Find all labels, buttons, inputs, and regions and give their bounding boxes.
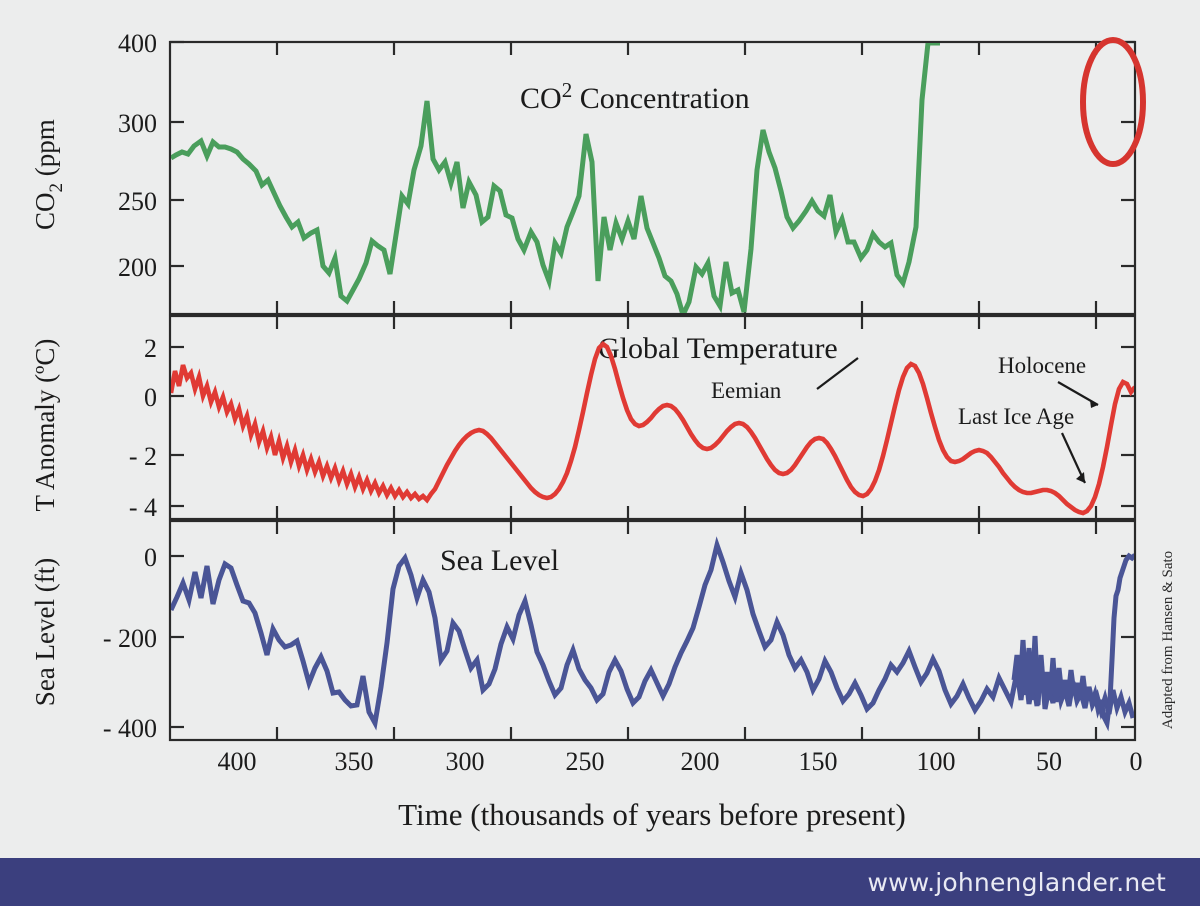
annotation-last-ice-age-label: Last Ice Age: [958, 404, 1074, 429]
xtick-300: 300: [446, 747, 485, 776]
climate-chart-svg: 400 300 250 200 CO2 (ppm CO2 Concentrati…: [0, 0, 1200, 852]
temperature-axis-label: T Anomaly (ºC): [30, 339, 60, 512]
temperature-ytick-0: 0: [144, 383, 157, 412]
xtick-350: 350: [335, 747, 374, 776]
temperature-ytick-2: 2: [144, 334, 157, 363]
xtick-0: 0: [1130, 747, 1143, 776]
xtick-50: 50: [1036, 747, 1062, 776]
co2-ytick-250: 250: [118, 187, 157, 216]
xtick-150: 150: [799, 747, 838, 776]
temperature-ytick-neg4: - 4: [129, 493, 157, 522]
source-credit: Adapted from Hansen & Sato: [1160, 551, 1176, 729]
annotation-holocene-label: Holocene: [998, 353, 1086, 378]
co2-panel-title: CO2 Concentration: [520, 78, 750, 115]
xtick-200: 200: [681, 747, 720, 776]
xtick-400: 400: [218, 747, 257, 776]
co2-title-base: CO: [520, 82, 562, 115]
sealevel-panel-title: Sea Level: [440, 544, 559, 577]
co2-ytick-200: 200: [118, 253, 157, 282]
annotation-eemian-label: Eemian: [711, 378, 782, 403]
co2-axis-label-sub: 2: [46, 183, 67, 193]
xtick-100: 100: [917, 747, 956, 776]
co2-ytick-300: 300: [118, 109, 157, 138]
website-url[interactable]: www.johnenglander.net: [867, 868, 1200, 897]
temperature-panel-title: Global Temperature: [598, 332, 838, 365]
sealevel-axis-label: Sea Level (ft): [30, 558, 60, 706]
xtick-250: 250: [566, 747, 605, 776]
temperature-ytick-neg2: - 2: [129, 442, 157, 471]
footer-bar: www.johnenglander.net: [0, 858, 1200, 906]
co2-title-sup: 2: [562, 78, 573, 102]
sealevel-ytick-neg400: - 400: [103, 714, 157, 743]
co2-axis-label-base: CO: [30, 192, 60, 230]
co2-title-rest: Concentration: [572, 82, 749, 115]
co2-axis-label-rest: (ppm: [30, 119, 60, 183]
sealevel-ytick-0: 0: [144, 543, 157, 572]
sealevel-ytick-neg200: - 200: [103, 624, 157, 653]
climate-figure: 400 300 250 200 CO2 (ppm CO2 Concentrati…: [0, 0, 1200, 852]
co2-ytick-400: 400: [118, 29, 157, 58]
x-axis-title: Time (thousands of years before present): [398, 797, 906, 832]
